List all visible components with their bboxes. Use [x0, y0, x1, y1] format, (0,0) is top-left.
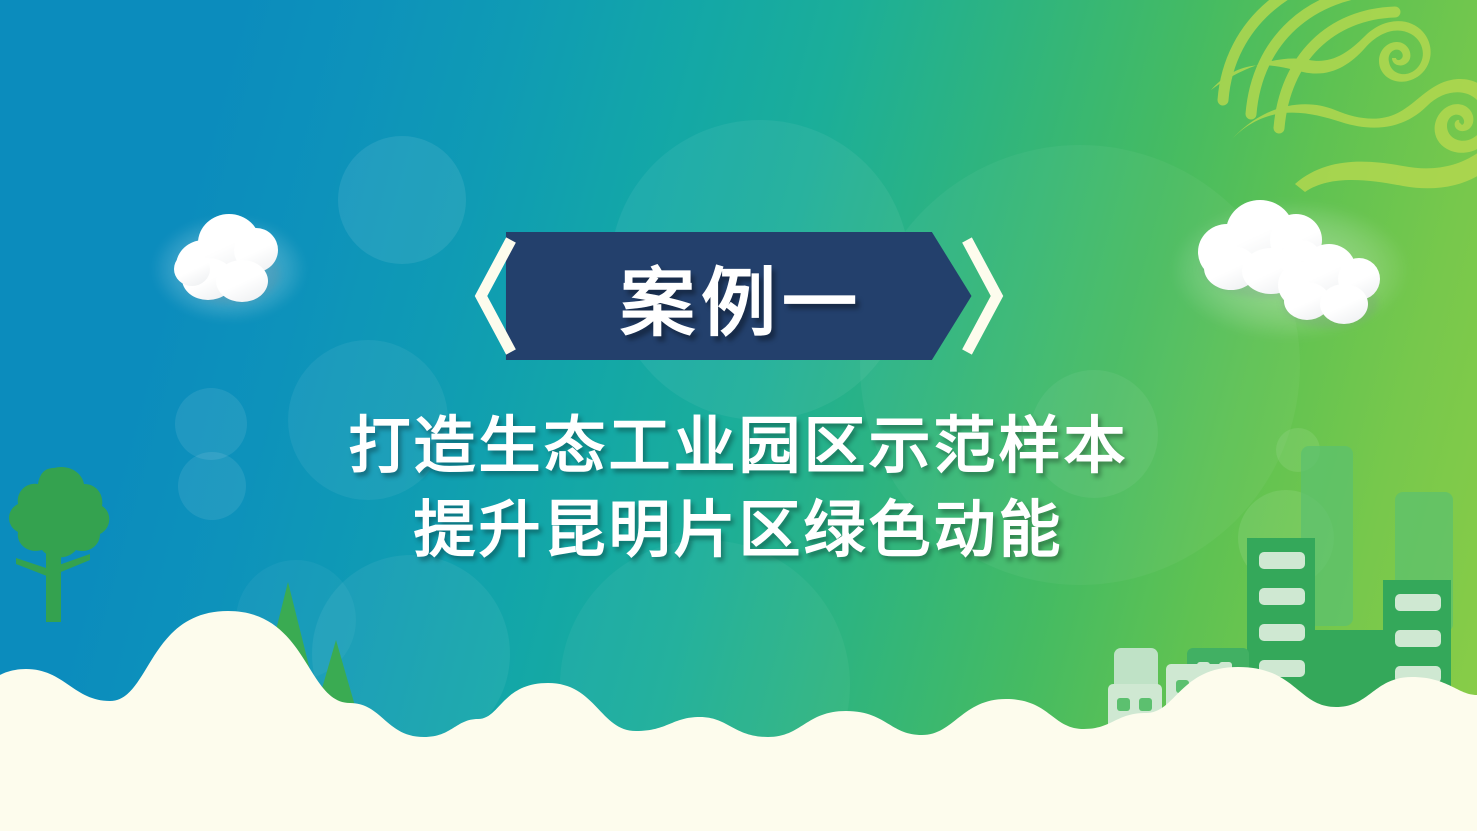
bubble-decoration: [560, 540, 850, 830]
auspicious-cloud-swirl-icon: [1199, 0, 1477, 192]
subtitle-line-1: 打造生态工业园区示范样本: [0, 404, 1477, 488]
city-building-icon: [1100, 636, 1260, 776]
slide-canvas: 案例一 打造生态工业园区示范样本 提升昆明片区绿色动能: [0, 0, 1477, 831]
bottom-cloud-border: [0, 551, 1477, 831]
case-banner: 案例一: [0, 232, 1477, 360]
slide-subtitle: 打造生态工业园区示范样本 提升昆明片区绿色动能: [0, 404, 1477, 572]
subtitle-line-2: 提升昆明片区绿色动能: [0, 488, 1477, 572]
case-title: 案例一: [506, 232, 972, 360]
pine-tree-icon: [300, 634, 376, 754]
bubble-decoration: [236, 560, 356, 680]
pine-tree-icon: [248, 578, 338, 738]
bubble-decoration: [312, 555, 510, 753]
